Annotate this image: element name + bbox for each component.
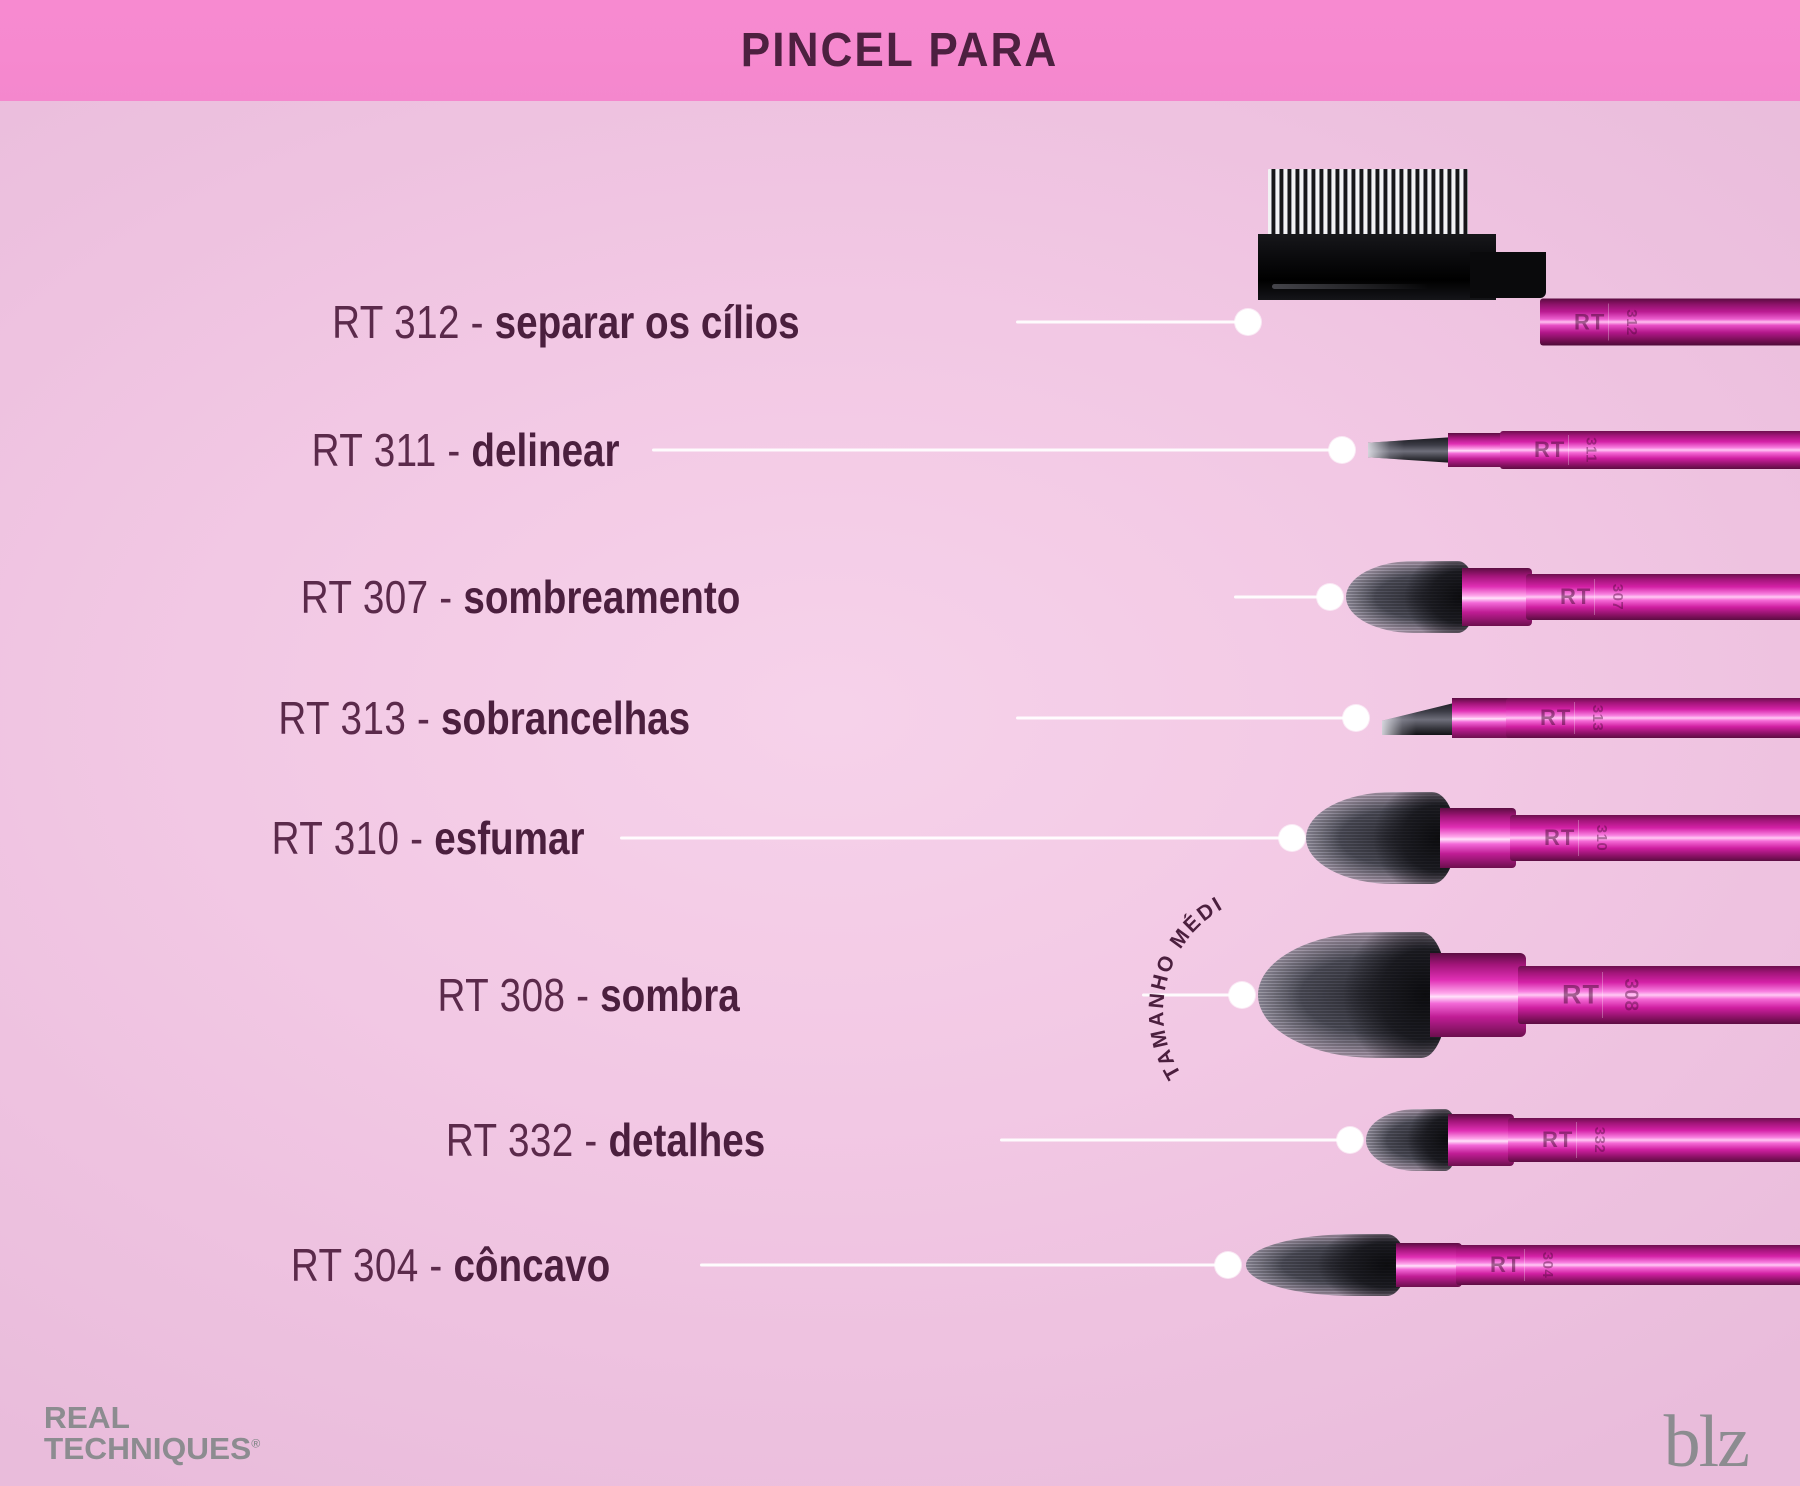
brush-ferrule-rt313 xyxy=(1452,698,1514,738)
logo-line-2-wrap: TECHNIQUES® xyxy=(44,1434,260,1464)
brush-label-rt304: RT 304 - côncavo xyxy=(291,1242,610,1288)
handle-rt-logo: RT xyxy=(1534,439,1565,461)
brush-description: delinear xyxy=(472,424,620,476)
leader-line-rt308 xyxy=(1142,994,1242,997)
brush-separator: - xyxy=(417,692,430,744)
brush-ferrule-rt307 xyxy=(1462,568,1532,626)
handle-rt-logo: RT xyxy=(1562,982,1600,1009)
logo-line-2: TECHNIQUES xyxy=(44,1431,251,1466)
leader-dot-rt308 xyxy=(1229,982,1255,1008)
leader-line-rt307 xyxy=(1234,596,1330,599)
bristle-streaks xyxy=(1258,932,1448,1058)
brush-handle-rt310: RT 310 xyxy=(1510,815,1800,861)
handle-seam xyxy=(1568,435,1569,465)
handle-number-rt307: 307 xyxy=(1610,584,1625,611)
size-annotation-text: TAMANHO MÉDIO xyxy=(1140,845,1227,1083)
brush-label-rt312: RT 312 - separar os cílios xyxy=(332,299,800,345)
leader-line-rt304 xyxy=(700,1264,1228,1267)
real-techniques-logo: REAL TECHNIQUES® xyxy=(44,1403,260,1464)
handle-rt-logo: RT xyxy=(1540,707,1571,729)
logo-line-1: REAL xyxy=(44,1403,260,1433)
infographic-canvas: PINCEL PARA RT 312 - separar os cílios R… xyxy=(0,0,1800,1486)
brush-description: esfumar xyxy=(435,812,585,864)
brush-label-rt313: RT 313 - sobrancelhas xyxy=(278,695,690,741)
brush-separator: - xyxy=(429,1239,442,1291)
handle-number-rt310: 310 xyxy=(1594,825,1609,852)
brush-head-rt310 xyxy=(1306,792,1456,884)
header-banner: PINCEL PARA xyxy=(0,0,1800,101)
brush-separator: - xyxy=(411,812,424,864)
brush-head-rt308 xyxy=(1258,932,1448,1058)
brush-head-rt304 xyxy=(1246,1234,1406,1296)
brush-handle-rt332: RT 332 xyxy=(1508,1118,1800,1162)
brush-code: RT 311 xyxy=(312,424,437,476)
brush-handle-rt304: RT 304 xyxy=(1456,1245,1800,1285)
brush-code: RT 312 xyxy=(332,296,460,348)
leader-dot-rt307 xyxy=(1317,584,1343,610)
brush-code: RT 304 xyxy=(291,1239,419,1291)
handle-number-rt308: 308 xyxy=(1621,978,1640,1011)
brush-description: sobrancelhas xyxy=(441,692,690,744)
brush-code: RT 310 xyxy=(272,812,400,864)
bristle-streaks xyxy=(1246,1234,1406,1296)
brush-label-rt310: RT 310 - esfumar xyxy=(272,815,585,861)
handle-seam xyxy=(1524,1249,1525,1281)
handle-seam xyxy=(1608,303,1609,341)
brush-description: detalhes xyxy=(608,1114,765,1166)
handle-rt-logo: RT xyxy=(1574,311,1605,333)
handle-seam xyxy=(1578,820,1579,857)
brush-ferrule-rt332 xyxy=(1448,1114,1514,1166)
brush-separator: - xyxy=(576,969,589,1021)
handle-number-rt312: 312 xyxy=(1624,309,1639,336)
handle-number-rt313: 313 xyxy=(1590,705,1605,732)
brush-description: separar os cílios xyxy=(495,296,800,348)
handle-seam xyxy=(1602,972,1603,1018)
lash-comb-body xyxy=(1258,234,1496,300)
brush-separator: - xyxy=(448,424,461,476)
leader-dot-rt312 xyxy=(1235,309,1261,335)
handle-rt-logo: RT xyxy=(1542,1129,1573,1151)
brush-handle-rt308: RT 308 xyxy=(1518,966,1800,1024)
brush-handle-rt313: RT 313 xyxy=(1506,698,1800,738)
brush-code: RT 307 xyxy=(300,571,428,623)
brush-head-rt307 xyxy=(1346,561,1476,633)
brush-code: RT 313 xyxy=(278,692,406,744)
handle-seam xyxy=(1576,1122,1577,1157)
leader-line-rt311 xyxy=(652,449,1342,452)
registered-mark: ® xyxy=(251,1436,260,1450)
leader-line-rt310 xyxy=(620,837,1292,840)
brush-separator: - xyxy=(584,1114,597,1166)
brush-handle-rt312: RT 312 xyxy=(1540,299,1800,346)
brush-description: sombra xyxy=(600,969,740,1021)
bristle-streaks xyxy=(1346,561,1476,633)
leader-dot-rt332 xyxy=(1337,1127,1363,1153)
handle-rt-logo: RT xyxy=(1490,1254,1521,1276)
brush-code: RT 308 xyxy=(438,969,566,1021)
brush-ferrule-rt308 xyxy=(1430,953,1526,1037)
leader-dot-rt304 xyxy=(1215,1252,1241,1278)
brush-description: côncavo xyxy=(453,1239,610,1291)
brush-label-rt308: RT 308 - sombra xyxy=(438,972,740,1018)
brush-handle-rt311: RT 311 xyxy=(1500,431,1800,469)
leader-dot-rt311 xyxy=(1329,437,1355,463)
leader-line-rt332 xyxy=(1000,1139,1350,1142)
handle-number-rt311: 311 xyxy=(1583,437,1598,463)
brush-head-rt311 xyxy=(1368,437,1454,463)
handle-number-rt304: 304 xyxy=(1540,1252,1555,1279)
leader-dot-rt310 xyxy=(1279,825,1305,851)
handle-number-rt332: 332 xyxy=(1592,1127,1607,1154)
brush-head-rt332 xyxy=(1366,1109,1458,1171)
page-title: PINCEL PARA xyxy=(741,23,1059,78)
handle-seam xyxy=(1574,702,1575,734)
bristle-streaks xyxy=(1306,792,1456,884)
lash-comb-nose xyxy=(1470,252,1546,298)
brush-separator: - xyxy=(471,296,484,348)
leader-line-rt313 xyxy=(1016,717,1356,720)
handle-rt-logo: RT xyxy=(1544,827,1575,849)
brush-handle-rt307: RT 307 xyxy=(1526,574,1800,620)
brush-ferrule-rt310 xyxy=(1440,808,1516,868)
svg-text:TAMANHO MÉDIO: TAMANHO MÉDIO xyxy=(1140,845,1227,1083)
brush-description: sombreamento xyxy=(463,571,740,623)
leader-dot-rt313 xyxy=(1343,705,1369,731)
brush-head-rt313 xyxy=(1382,701,1462,735)
brush-code: RT 332 xyxy=(446,1114,574,1166)
brush-separator: - xyxy=(439,571,452,623)
brush-label-rt307: RT 307 - sombreamento xyxy=(300,574,740,620)
brush-ferrule-rt311 xyxy=(1448,433,1506,467)
brush-label-rt332: RT 332 - detalhes xyxy=(446,1117,765,1163)
handle-seam xyxy=(1594,579,1595,616)
brush-label-rt311: RT 311 - delinear xyxy=(312,427,620,473)
handle-rt-logo: RT xyxy=(1560,586,1591,608)
bristle-edge xyxy=(1368,437,1404,463)
bristle-edge xyxy=(1382,701,1416,735)
bristle-streaks xyxy=(1366,1109,1458,1171)
brush-ferrule-rt304 xyxy=(1396,1243,1462,1287)
blz-logo: blz xyxy=(1664,1413,1748,1472)
leader-line-rt312 xyxy=(1016,321,1248,324)
lash-comb-teeth xyxy=(1268,169,1468,235)
